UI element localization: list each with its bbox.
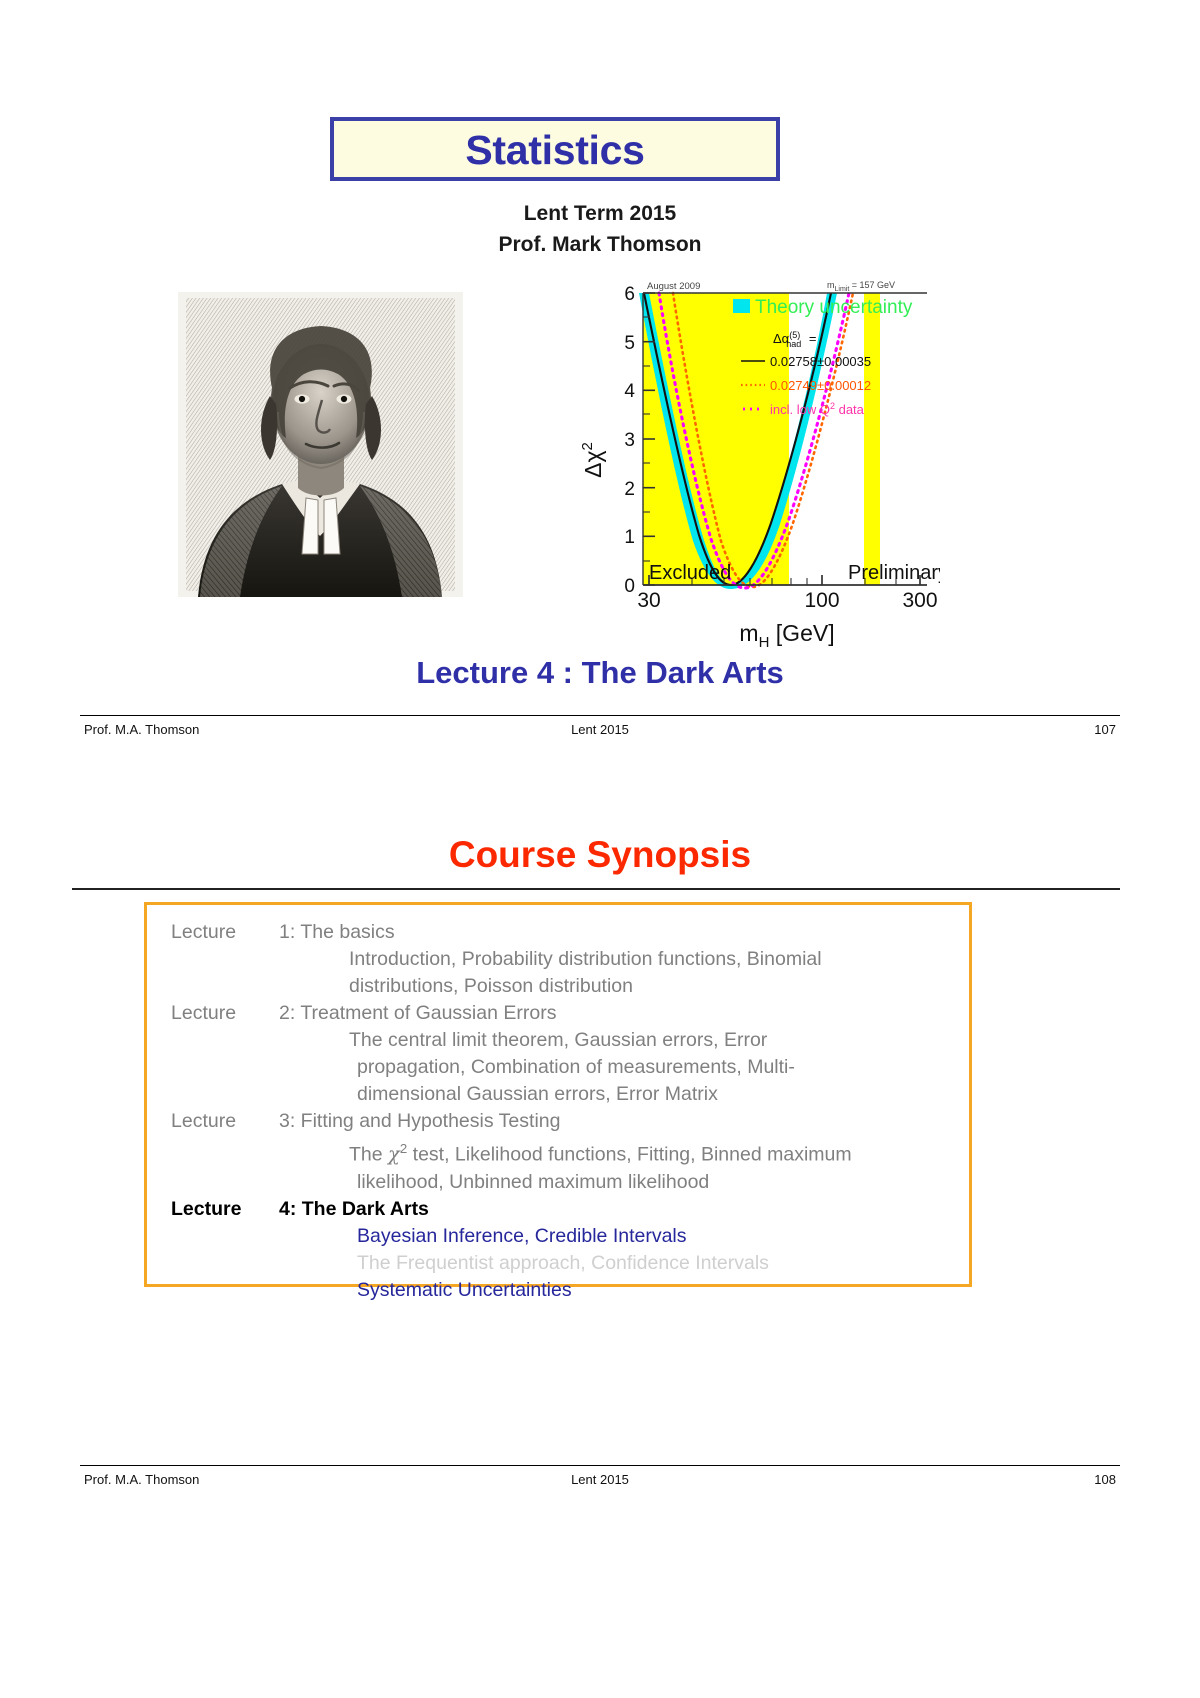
synopsis-entry: Lecture 3: Fitting and Hypothesis Testin… bbox=[171, 1108, 959, 1135]
synopsis-subline: distributions, Poisson distribution bbox=[349, 973, 959, 1000]
svg-text:5: 5 bbox=[624, 333, 635, 354]
synopsis-subline: likelihood, Unbinned maximum likelihood bbox=[357, 1169, 959, 1196]
legend-swatch-theory bbox=[733, 299, 750, 313]
legend-label-series1: 0.02758±0.00035 bbox=[770, 354, 871, 369]
synopsis-subline: propagation, Combination of measurements… bbox=[357, 1054, 959, 1081]
synopsis-subline: The central limit theorem, Gaussian erro… bbox=[349, 1027, 959, 1054]
svg-text:mH [GeV]: mH [GeV] bbox=[739, 620, 834, 650]
bayes-portrait-image bbox=[178, 292, 463, 597]
legend-label-series2: 0.02749±0.00012 bbox=[770, 378, 871, 393]
footer-term: Lent 2015 bbox=[80, 722, 1120, 737]
svg-text:0: 0 bbox=[624, 576, 635, 597]
slide-title-page: Statistics Lent Term 2015 Prof. Mark Tho… bbox=[0, 0, 1200, 745]
synopsis-entry-active: Lecture 4: The Dark Arts bbox=[171, 1196, 959, 1223]
synopsis-entry-heading: 1: The basics bbox=[279, 919, 395, 946]
synopsis-entry-label: Lecture bbox=[171, 1108, 279, 1135]
legend-label-theory: Theory uncertainty bbox=[755, 297, 913, 318]
synopsis-divider bbox=[72, 888, 1120, 890]
x-axis-title: mH [GeV] bbox=[739, 620, 834, 650]
footer-page-number: 108 bbox=[1094, 1472, 1116, 1487]
synopsis-subline-systematics: Systematic Uncertainties bbox=[357, 1277, 959, 1304]
synopsis-entry-heading: 4: The Dark Arts bbox=[279, 1196, 429, 1223]
slide1-footer: Prof. M.A. Thomson Lent 2015 107 bbox=[80, 715, 1120, 745]
footer-term: Lent 2015 bbox=[80, 1472, 1120, 1487]
footer-page-number: 107 bbox=[1094, 722, 1116, 737]
chart-svg: 6 5 4 3 2 1 0 bbox=[575, 275, 940, 650]
synopsis-entry-heading: 2: Treatment of Gaussian Errors bbox=[279, 1000, 556, 1027]
professor-label: Prof. Mark Thomson bbox=[0, 229, 1200, 260]
slide2-footer: Prof. M.A. Thomson Lent 2015 108 bbox=[80, 1465, 1120, 1495]
synopsis-entry-label: Lecture bbox=[171, 1000, 279, 1027]
chart-date-annotation: August 2009 bbox=[647, 281, 700, 292]
svg-text:4: 4 bbox=[624, 381, 635, 402]
svg-text:2: 2 bbox=[624, 479, 635, 500]
synopsis-subline: dimensional Gaussian errors, Error Matri… bbox=[357, 1081, 959, 1108]
title-box: Statistics bbox=[330, 117, 780, 181]
svg-text:3: 3 bbox=[624, 430, 635, 451]
svg-text:100: 100 bbox=[804, 589, 839, 612]
legend-label-series3: incl. low Q2 data bbox=[770, 401, 865, 417]
region-label-excluded: Excluded bbox=[649, 562, 731, 584]
synopsis-entry-heading: 3: Fitting and Hypothesis Testing bbox=[279, 1108, 560, 1135]
synopsis-entry-label: Lecture bbox=[171, 919, 279, 946]
term-label: Lent Term 2015 bbox=[0, 198, 1200, 229]
svg-text:30: 30 bbox=[637, 589, 660, 612]
svg-text:6: 6 bbox=[624, 284, 635, 305]
synopsis-subline: Introduction, Probability distribution f… bbox=[349, 946, 959, 973]
synopsis-subline-frequentist: The Frequentist approach, Confidence Int… bbox=[357, 1250, 959, 1277]
synopsis-entry: Lecture 2: Treatment of Gaussian Errors bbox=[171, 1000, 959, 1027]
page-title: Statistics bbox=[334, 121, 776, 179]
synopsis-entry: Lecture 1: The basics bbox=[171, 919, 959, 946]
lecture-heading: Lecture 4 : The Dark Arts bbox=[0, 655, 1200, 691]
excluded-band-high bbox=[864, 293, 880, 585]
synopsis-title: Course Synopsis bbox=[0, 834, 1200, 876]
portrait-svg bbox=[178, 292, 463, 597]
svg-text:1: 1 bbox=[624, 527, 635, 548]
subtitle-block: Lent Term 2015 Prof. Mark Thomson bbox=[0, 198, 1200, 260]
synopsis-entry-label: Lecture bbox=[171, 1196, 279, 1223]
svg-text:300: 300 bbox=[902, 589, 937, 612]
higgs-chi2-chart: 6 5 4 3 2 1 0 bbox=[575, 275, 940, 650]
synopsis-subline-chi: The χ2 test, Likelihood functions, Fitti… bbox=[349, 1135, 959, 1169]
synopsis-box: Lecture 1: The basics Introduction, Prob… bbox=[144, 902, 972, 1287]
slide-course-synopsis: Course Synopsis Lecture 1: The basics In… bbox=[0, 760, 1200, 1500]
synopsis-subline-bayesian: Bayesian Inference, Credible Intervals bbox=[357, 1223, 959, 1250]
region-label-preliminary: Preliminary bbox=[848, 562, 940, 584]
